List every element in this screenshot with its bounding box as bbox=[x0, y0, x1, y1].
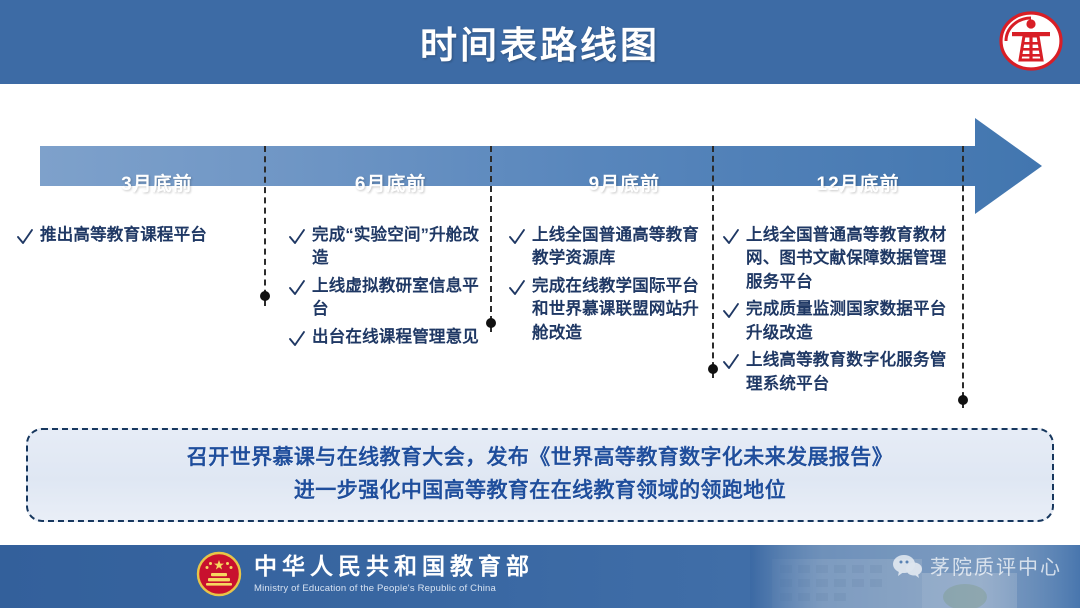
list-item: 出台在线课程管理意见 bbox=[288, 326, 484, 349]
milestone-label-4: 12月底前 bbox=[741, 157, 975, 207]
list-item: 上线全国普通高等教育教材网、图书文献保障数据管理服务平台 bbox=[722, 224, 954, 294]
milestone-column-3: 上线全国普通高等教育教学资源库 完成在线教学国际平台和世界慕课联盟网站升舱改造 bbox=[508, 224, 704, 349]
ministry-text-block: 中华人民共和国教育部 Ministry of Education of the … bbox=[254, 554, 534, 593]
list-item-text: 出台在线课程管理意见 bbox=[312, 326, 479, 349]
slide-canvas: 时间表路线图 bbox=[0, 0, 1080, 608]
milestone-column-4: 上线全国普通高等教育教材网、图书文献保障数据管理服务平台 完成质量监测国家数据平… bbox=[722, 224, 954, 400]
check-icon bbox=[508, 278, 526, 298]
red-circular-tower-logo bbox=[996, 6, 1066, 76]
check-icon bbox=[722, 352, 740, 372]
watermark-label: 茅院质评中心 bbox=[930, 551, 1062, 580]
check-icon bbox=[288, 278, 306, 298]
list-item: 上线虚拟教研室信息平台 bbox=[288, 275, 484, 322]
callout-line-2: 进一步强化中国高等教育在在线教育领域的领跑地位 bbox=[294, 475, 786, 508]
list-item: 推出高等教育课程平台 bbox=[16, 224, 256, 247]
slide-header: 时间表路线图 bbox=[0, 0, 1080, 84]
wechat-icon bbox=[892, 553, 922, 579]
check-icon bbox=[508, 227, 526, 247]
check-icon bbox=[722, 301, 740, 321]
check-icon bbox=[16, 227, 34, 247]
list-item-text: 推出高等教育课程平台 bbox=[40, 224, 207, 247]
list-item-text: 上线全国普通高等教育教材网、图书文献保障数据管理服务平台 bbox=[746, 224, 954, 294]
list-item: 完成在线教学国际平台和世界慕课联盟网站升舱改造 bbox=[508, 275, 704, 345]
milestone-column-1: 推出高等教育课程平台 bbox=[16, 224, 256, 251]
list-item-text: 上线高等教育数字化服务管理系统平台 bbox=[746, 349, 954, 396]
list-item-text: 上线全国普通高等教育教学资源库 bbox=[532, 224, 704, 271]
list-item-text: 完成在线教学国际平台和世界慕课联盟网站升舱改造 bbox=[532, 275, 704, 345]
list-item: 上线高等教育数字化服务管理系统平台 bbox=[722, 349, 954, 396]
china-national-emblem bbox=[196, 551, 242, 597]
milestone-column-2: 完成“实验空间”升舱改造 上线虚拟教研室信息平台 出台在线课程管理意见 bbox=[288, 224, 484, 353]
ministry-name-en: Ministry of Education of the People's Re… bbox=[254, 583, 534, 594]
milestone-columns: 推出高等教育课程平台 完成“实验空间”升舱改造 上线虚拟教研室信息平 bbox=[0, 224, 1080, 424]
callout-line-1: 召开世界慕课与在线教育大会，发布《世界高等教育数字化未来发展报告》 bbox=[187, 442, 893, 475]
list-item-text: 完成“实验空间”升舱改造 bbox=[312, 224, 484, 271]
milestone-label-1: 3月底前 bbox=[40, 157, 274, 207]
milestone-label-2: 6月底前 bbox=[274, 157, 508, 207]
list-item: 完成“实验空间”升舱改造 bbox=[288, 224, 484, 271]
summary-callout: 召开世界慕课与在线教育大会，发布《世界高等教育数字化未来发展报告》 进一步强化中… bbox=[26, 428, 1054, 522]
check-icon bbox=[288, 227, 306, 247]
ministry-name-cn: 中华人民共和国教育部 bbox=[254, 554, 534, 580]
list-item: 完成质量监测国家数据平台升级改造 bbox=[722, 298, 954, 345]
list-item-text: 完成质量监测国家数据平台升级改造 bbox=[746, 298, 954, 345]
page-title: 时间表路线图 bbox=[420, 15, 660, 69]
milestone-label-row: 3月底前 6月底前 9月底前 12月底前 bbox=[40, 157, 975, 207]
check-icon bbox=[288, 329, 306, 349]
list-item: 上线全国普通高等教育教学资源库 bbox=[508, 224, 704, 271]
channel-watermark: 茅院质评中心 bbox=[892, 551, 1062, 580]
list-item-text: 上线虚拟教研室信息平台 bbox=[312, 275, 484, 322]
milestone-label-3: 9月底前 bbox=[508, 157, 742, 207]
slide-footer: 中华人民共和国教育部 Ministry of Education of the … bbox=[0, 545, 1080, 608]
check-icon bbox=[722, 227, 740, 247]
ministry-brand: 中华人民共和国教育部 Ministry of Education of the … bbox=[196, 551, 534, 597]
